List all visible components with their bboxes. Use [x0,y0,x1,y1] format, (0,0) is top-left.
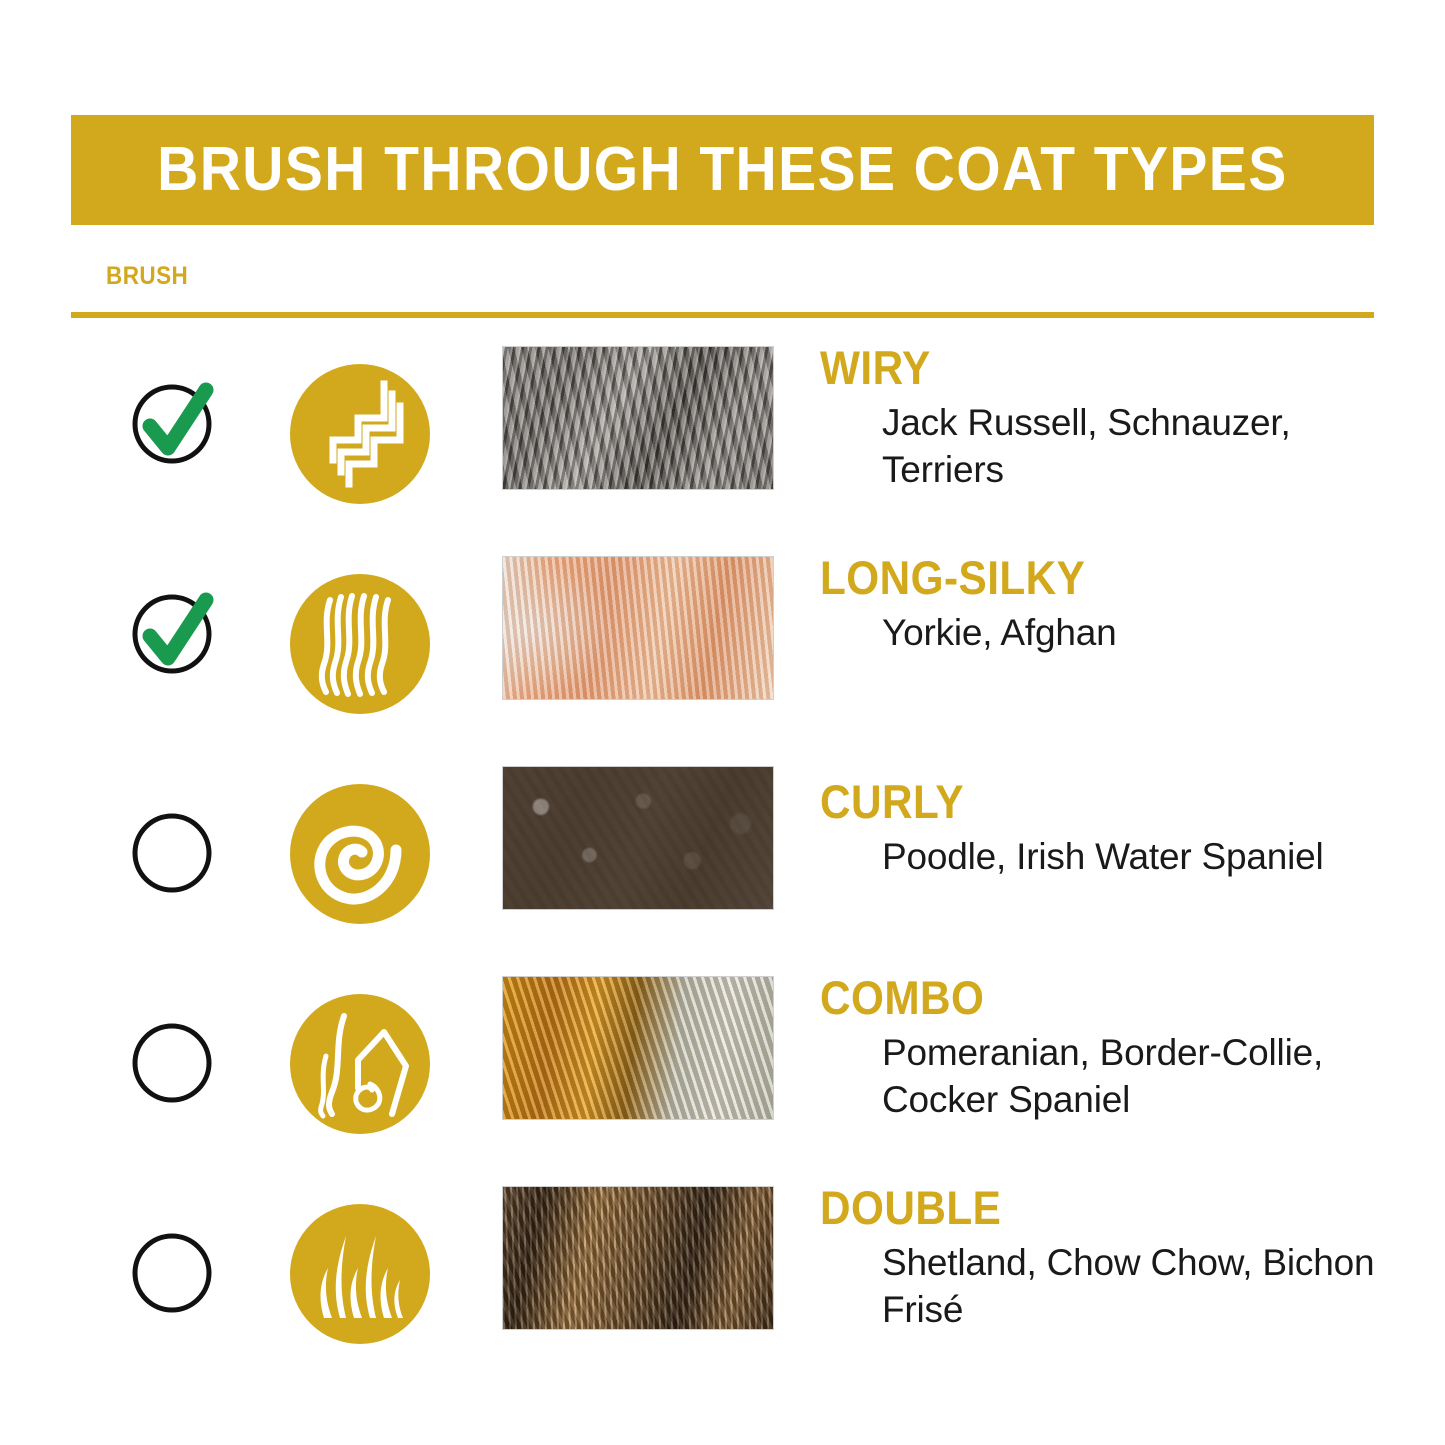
list-item: LONG-SILKY Yorkie, Afghan [0,548,1445,758]
long-silky-fur-photo [502,556,774,700]
double-fur-photo [502,1186,774,1330]
column-header: BRUSH [71,262,1374,320]
infographic-page: BRUSH THROUGH THESE COAT TYPES BRUSH [0,0,1445,1445]
coat-type-name: DOUBLE [820,1184,1360,1232]
long-silky-strands-icon [288,572,432,716]
empty-circle-icon[interactable] [120,798,230,908]
curly-spiral-icon [288,782,432,926]
coat-type-breeds: Jack Russell, Schnauzer, Terriers [882,400,1420,493]
page-title: BRUSH THROUGH THESE COAT TYPES [157,139,1288,201]
empty-circle-icon[interactable] [120,1008,230,1118]
coat-type-breeds: Pomeranian, Border-Collie, Cocker Spanie… [882,1030,1420,1123]
column-header-label: BRUSH [106,262,188,291]
coat-type-breeds: Shetland, Chow Chow, Bichon Frisé [882,1240,1420,1333]
coat-type-breeds: Yorkie, Afghan [882,610,1420,657]
coat-type-name: CURLY [820,778,1360,826]
coat-type-text: CURLY Poodle, Irish Water Spaniel [820,778,1420,881]
coat-type-text: COMBO Pomeranian, Border-Collie, Cocker … [820,974,1420,1123]
wiry-zigzag-icon [288,362,432,506]
coat-type-name: COMBO [820,974,1360,1022]
coat-type-name: LONG-SILKY [820,554,1360,602]
wiry-fur-photo [502,346,774,490]
check-circle-icon[interactable] [120,366,230,476]
empty-circle-icon[interactable] [120,1218,230,1328]
coat-type-breeds: Poodle, Irish Water Spaniel [882,834,1420,881]
check-circle-icon[interactable] [120,576,230,686]
list-item: COMBO Pomeranian, Border-Collie, Cocker … [0,968,1445,1178]
header-banner: BRUSH THROUGH THESE COAT TYPES [71,115,1374,225]
combo-mixed-icon [288,992,432,1136]
coat-type-list: WIRY Jack Russell, Schnauzer, Terriers [0,338,1445,1388]
coat-type-text: WIRY Jack Russell, Schnauzer, Terriers [820,344,1420,493]
double-coat-strands-icon [288,1202,432,1346]
list-item: CURLY Poodle, Irish Water Spaniel [0,758,1445,968]
list-item: WIRY Jack Russell, Schnauzer, Terriers [0,338,1445,548]
coat-type-text: LONG-SILKY Yorkie, Afghan [820,554,1420,657]
list-item: DOUBLE Shetland, Chow Chow, Bichon Frisé [0,1178,1445,1388]
header-divider [71,312,1374,318]
combo-fur-photo [502,976,774,1120]
curly-fur-photo [502,766,774,910]
coat-type-name: WIRY [820,344,1360,392]
coat-type-text: DOUBLE Shetland, Chow Chow, Bichon Frisé [820,1184,1420,1333]
